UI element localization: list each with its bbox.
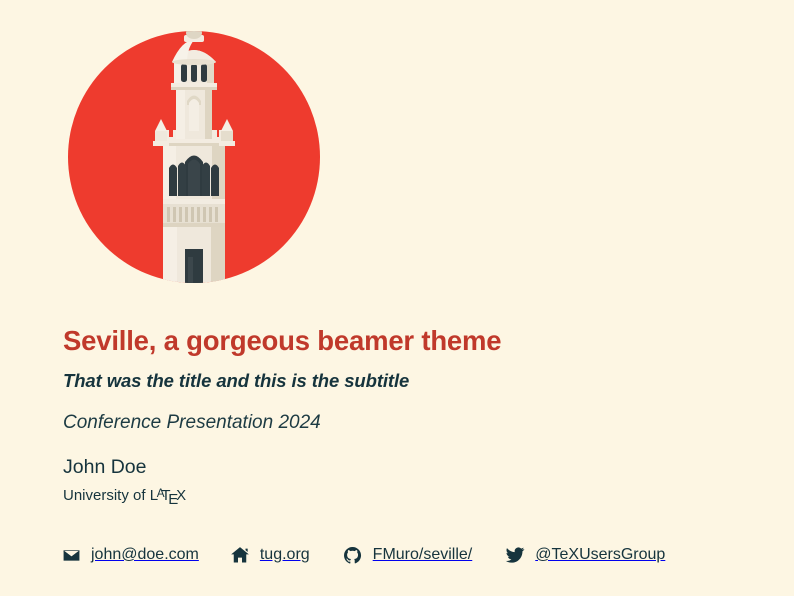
footer-link-github[interactable]: FMuro/seville/: [342, 544, 473, 566]
footer-links: john@doe.com tug.org FMuro/seville/: [60, 544, 764, 566]
title-text-block: Seville, a gorgeous beamer theme That wa…: [63, 325, 754, 509]
institute-prefix: University of: [63, 487, 150, 504]
page-title: Seville, a gorgeous beamer theme: [63, 325, 754, 357]
page-subtitle: That was the title and this is the subti…: [63, 370, 754, 392]
footer-link-twitter[interactable]: @TeXUsersGroup: [504, 544, 665, 566]
author-name: John Doe: [63, 456, 754, 479]
envelope-icon: [60, 544, 82, 566]
event-name: Conference Presentation 2024: [63, 412, 754, 435]
title-slide: Seville, a gorgeous beamer theme That wa…: [0, 0, 794, 596]
github-icon: [342, 544, 364, 566]
footer-link-github-label: FMuro/seville/: [373, 547, 473, 563]
footer-link-homepage-label: tug.org: [260, 547, 310, 563]
twitter-icon: [504, 544, 526, 566]
footer-link-twitter-label: @TeXUsersGroup: [535, 547, 665, 563]
footer-link-email[interactable]: john@doe.com: [60, 544, 199, 566]
giralda-tower-icon: [68, 31, 320, 283]
home-icon: [229, 544, 251, 566]
footer-link-homepage[interactable]: tug.org: [229, 544, 310, 566]
latex-logo-x: X: [176, 487, 185, 504]
giralda-tower-logo: [68, 31, 320, 283]
latex-logo: LATEX: [150, 487, 186, 508]
institute-name: University of LATEX: [63, 487, 754, 508]
footer-link-email-label: john@doe.com: [91, 547, 199, 563]
